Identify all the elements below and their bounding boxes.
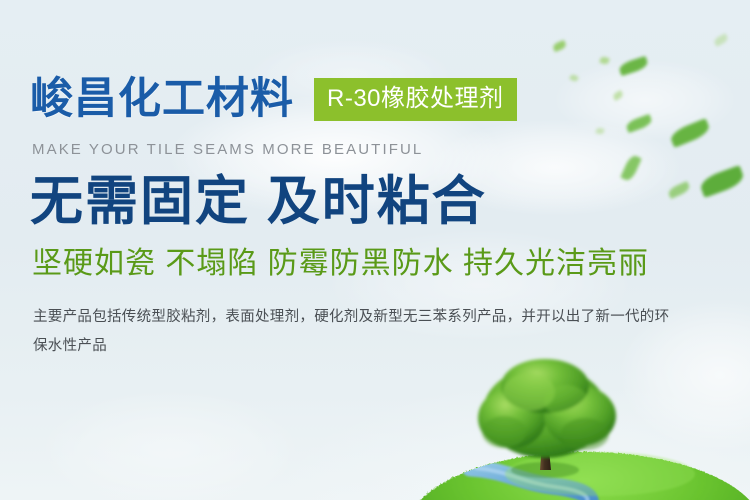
english-tagline: MAKE YOUR TILE SEAMS MORE BEAUTIFUL xyxy=(32,141,423,158)
cloud-wisp xyxy=(555,60,735,140)
promo-banner: 峻昌化工材料 R-30橡胶处理剂 MAKE YOUR TILE SEAMS MO… xyxy=(0,0,750,500)
main-headline: 无需固定 及时粘合 xyxy=(30,172,487,231)
brand-row: 峻昌化工材料 R-30橡胶处理剂 xyxy=(30,78,517,121)
leaf-icon xyxy=(552,40,567,52)
leaf-icon xyxy=(698,165,746,198)
description-paragraph: 主要产品包括传统型胶粘剂，表面处理剂，硬化剂及新型无三苯系列产品，并开以出了新一… xyxy=(33,303,673,361)
cloud-wisp xyxy=(40,390,300,500)
leaf-icon xyxy=(595,127,604,135)
grass-hill xyxy=(407,452,750,500)
product-badge: R-30橡胶处理剂 xyxy=(314,78,517,121)
leaf-icon xyxy=(612,90,624,101)
leaf-icon xyxy=(569,73,579,82)
brand-title: 峻昌化工材料 xyxy=(30,78,294,121)
stream xyxy=(470,468,636,500)
leaf-icon xyxy=(667,181,691,199)
sub-headline: 坚硬如瓷 不塌陷 防霉防黑防水 持久光洁亮丽 xyxy=(32,246,649,282)
description-line-1: 主要产品包括传统型胶粘剂，表面处理剂，硬化剂及新型无三苯系列产品，并开以 xyxy=(33,309,566,325)
leaf-icon xyxy=(599,56,610,65)
leaf-icon xyxy=(620,154,642,183)
tree xyxy=(478,359,616,478)
leaf-icon xyxy=(625,114,653,133)
leaf-icon xyxy=(668,118,711,148)
leaf-icon xyxy=(713,33,729,47)
leaf-icon xyxy=(618,56,649,76)
